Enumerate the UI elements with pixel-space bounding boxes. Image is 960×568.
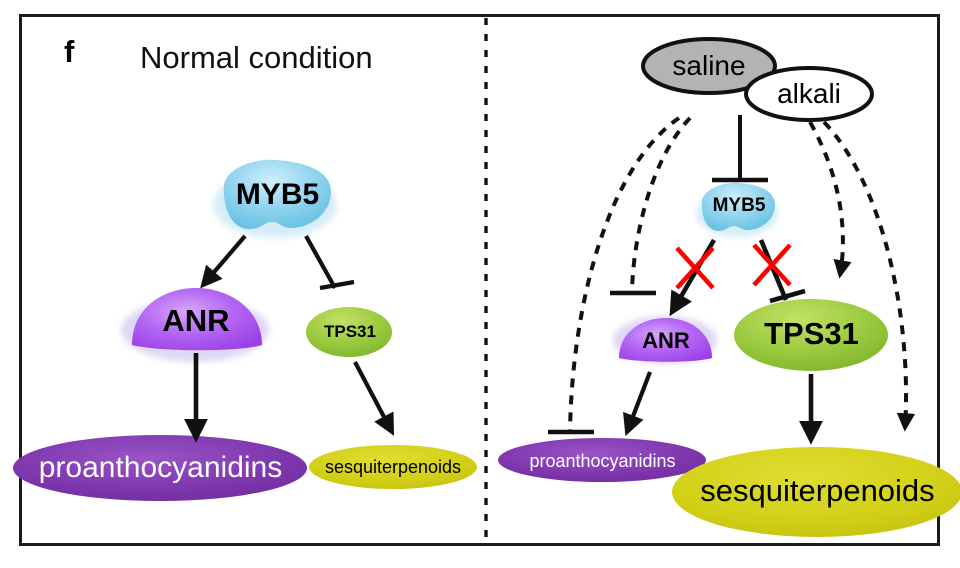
node-myb5-left[interactable] [224, 160, 331, 229]
node-proanthocyanidins-right[interactable] [498, 438, 706, 482]
node-myb5-right[interactable] [702, 183, 775, 231]
edge-myb5-to-tps31-left [306, 236, 335, 288]
figure-canvas: f Normal condition MYB5 ANR TPS31 proant… [0, 0, 960, 568]
node-proanthocyanidins-left[interactable] [13, 435, 307, 501]
edge-stimuli-to-pa-curve [570, 118, 679, 432]
node-alkali[interactable] [746, 68, 872, 120]
node-sesquiterpenoids-right[interactable] [672, 447, 960, 537]
edge-stimuli-to-sq-curve [824, 122, 906, 428]
panel-letter: f [64, 34, 74, 70]
diagram-svg [0, 0, 960, 568]
edge-stimuli-to-tps31-curve [810, 122, 843, 275]
edge-myb5-to-anr-left [203, 236, 245, 285]
node-sesquiterpenoids-left[interactable] [309, 445, 477, 489]
panel-title-normal-condition: Normal condition [140, 40, 373, 76]
edge-stimuli-to-anr-curve [632, 118, 690, 292]
node-tps31-right[interactable] [734, 299, 888, 371]
edge-anr-to-pa-right [627, 372, 650, 432]
node-anr-left[interactable] [132, 288, 262, 350]
edge-myb5-to-tps31-left-bar [320, 282, 354, 288]
edge-tps31-to-sq-left [355, 362, 392, 432]
node-tps31-left[interactable] [306, 307, 392, 357]
